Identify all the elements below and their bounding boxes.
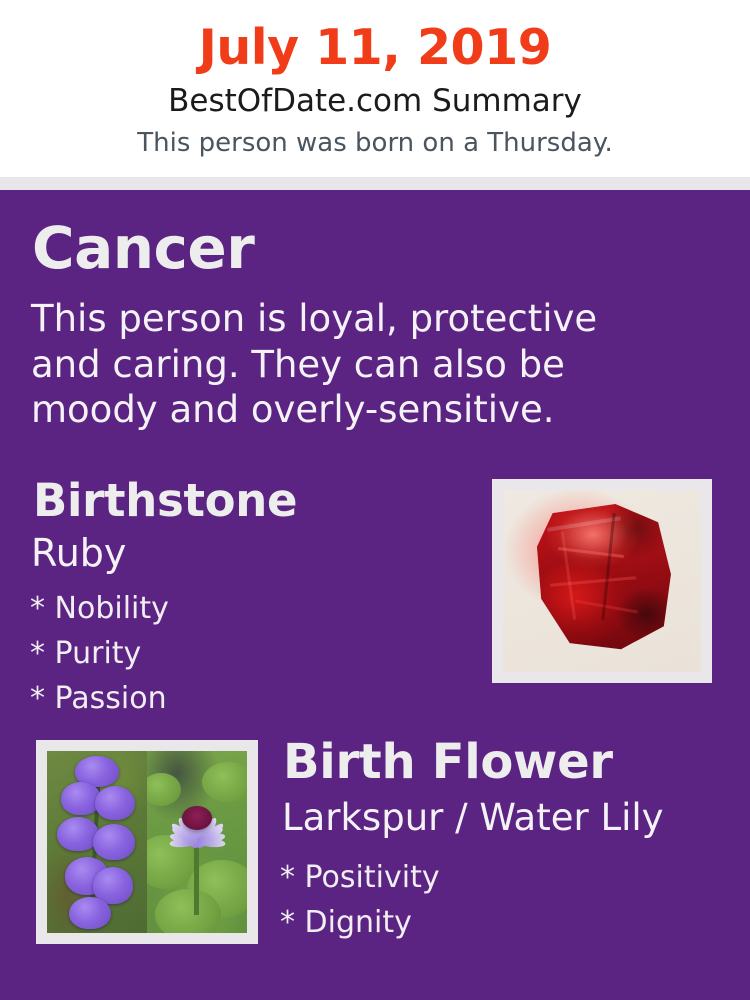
weekday-statement: This person was born on a Thursday.: [0, 130, 750, 156]
page-header: July 11, 2019 BestOfDate.com Summary Thi…: [0, 0, 750, 177]
larkspur-blossom: [95, 786, 135, 821]
ruby-facet-line: [561, 532, 576, 620]
zodiac-sign-heading: Cancer: [32, 219, 254, 277]
larkspur-blossom: [93, 824, 135, 860]
header-divider: [0, 177, 750, 190]
page-title-date: July 11, 2019: [0, 23, 750, 72]
birth-flower-photo-frame: [36, 740, 258, 944]
list-item: * Dignity: [280, 900, 720, 945]
birth-flower-trait-list: * Positivity * Dignity: [280, 855, 720, 945]
birthstone-heading: Birthstone: [33, 478, 297, 523]
ruby-gem-shape: [533, 501, 676, 654]
birthstone-name: Ruby: [31, 534, 126, 572]
birth-flower-heading: Birth Flower: [283, 738, 613, 786]
infographic-page: July 11, 2019 BestOfDate.com Summary Thi…: [0, 0, 750, 1000]
larkspur-blossom: [69, 897, 111, 930]
birthstone-trait-list: * Nobility * Purity * Passion: [30, 586, 450, 721]
list-item: * Passion: [30, 676, 450, 721]
ruby-facet-line: [550, 577, 635, 587]
lily-pad: [147, 773, 181, 806]
list-item: * Positivity: [280, 855, 720, 900]
water-lily-photo-panel: [147, 751, 247, 933]
ruby-facet-line: [576, 599, 638, 613]
list-item: * Nobility: [30, 586, 450, 631]
lily-pad: [202, 762, 247, 802]
larkspur-photo-panel: [47, 751, 147, 933]
list-item: * Purity: [30, 631, 450, 676]
birth-flower-name: Larkspur / Water Lily: [282, 799, 664, 836]
site-summary-label: BestOfDate.com Summary: [0, 86, 750, 117]
birthstone-photo: [503, 490, 701, 672]
water-lily-center: [182, 806, 212, 830]
birthstone-photo-frame: [492, 479, 712, 683]
ruby-facet-line: [601, 513, 615, 620]
lily-pad: [155, 889, 221, 933]
birth-flower-photo: [47, 751, 247, 933]
ruby-facet-line: [558, 547, 623, 558]
zodiac-description: This person is loyal, protective and car…: [31, 296, 671, 433]
